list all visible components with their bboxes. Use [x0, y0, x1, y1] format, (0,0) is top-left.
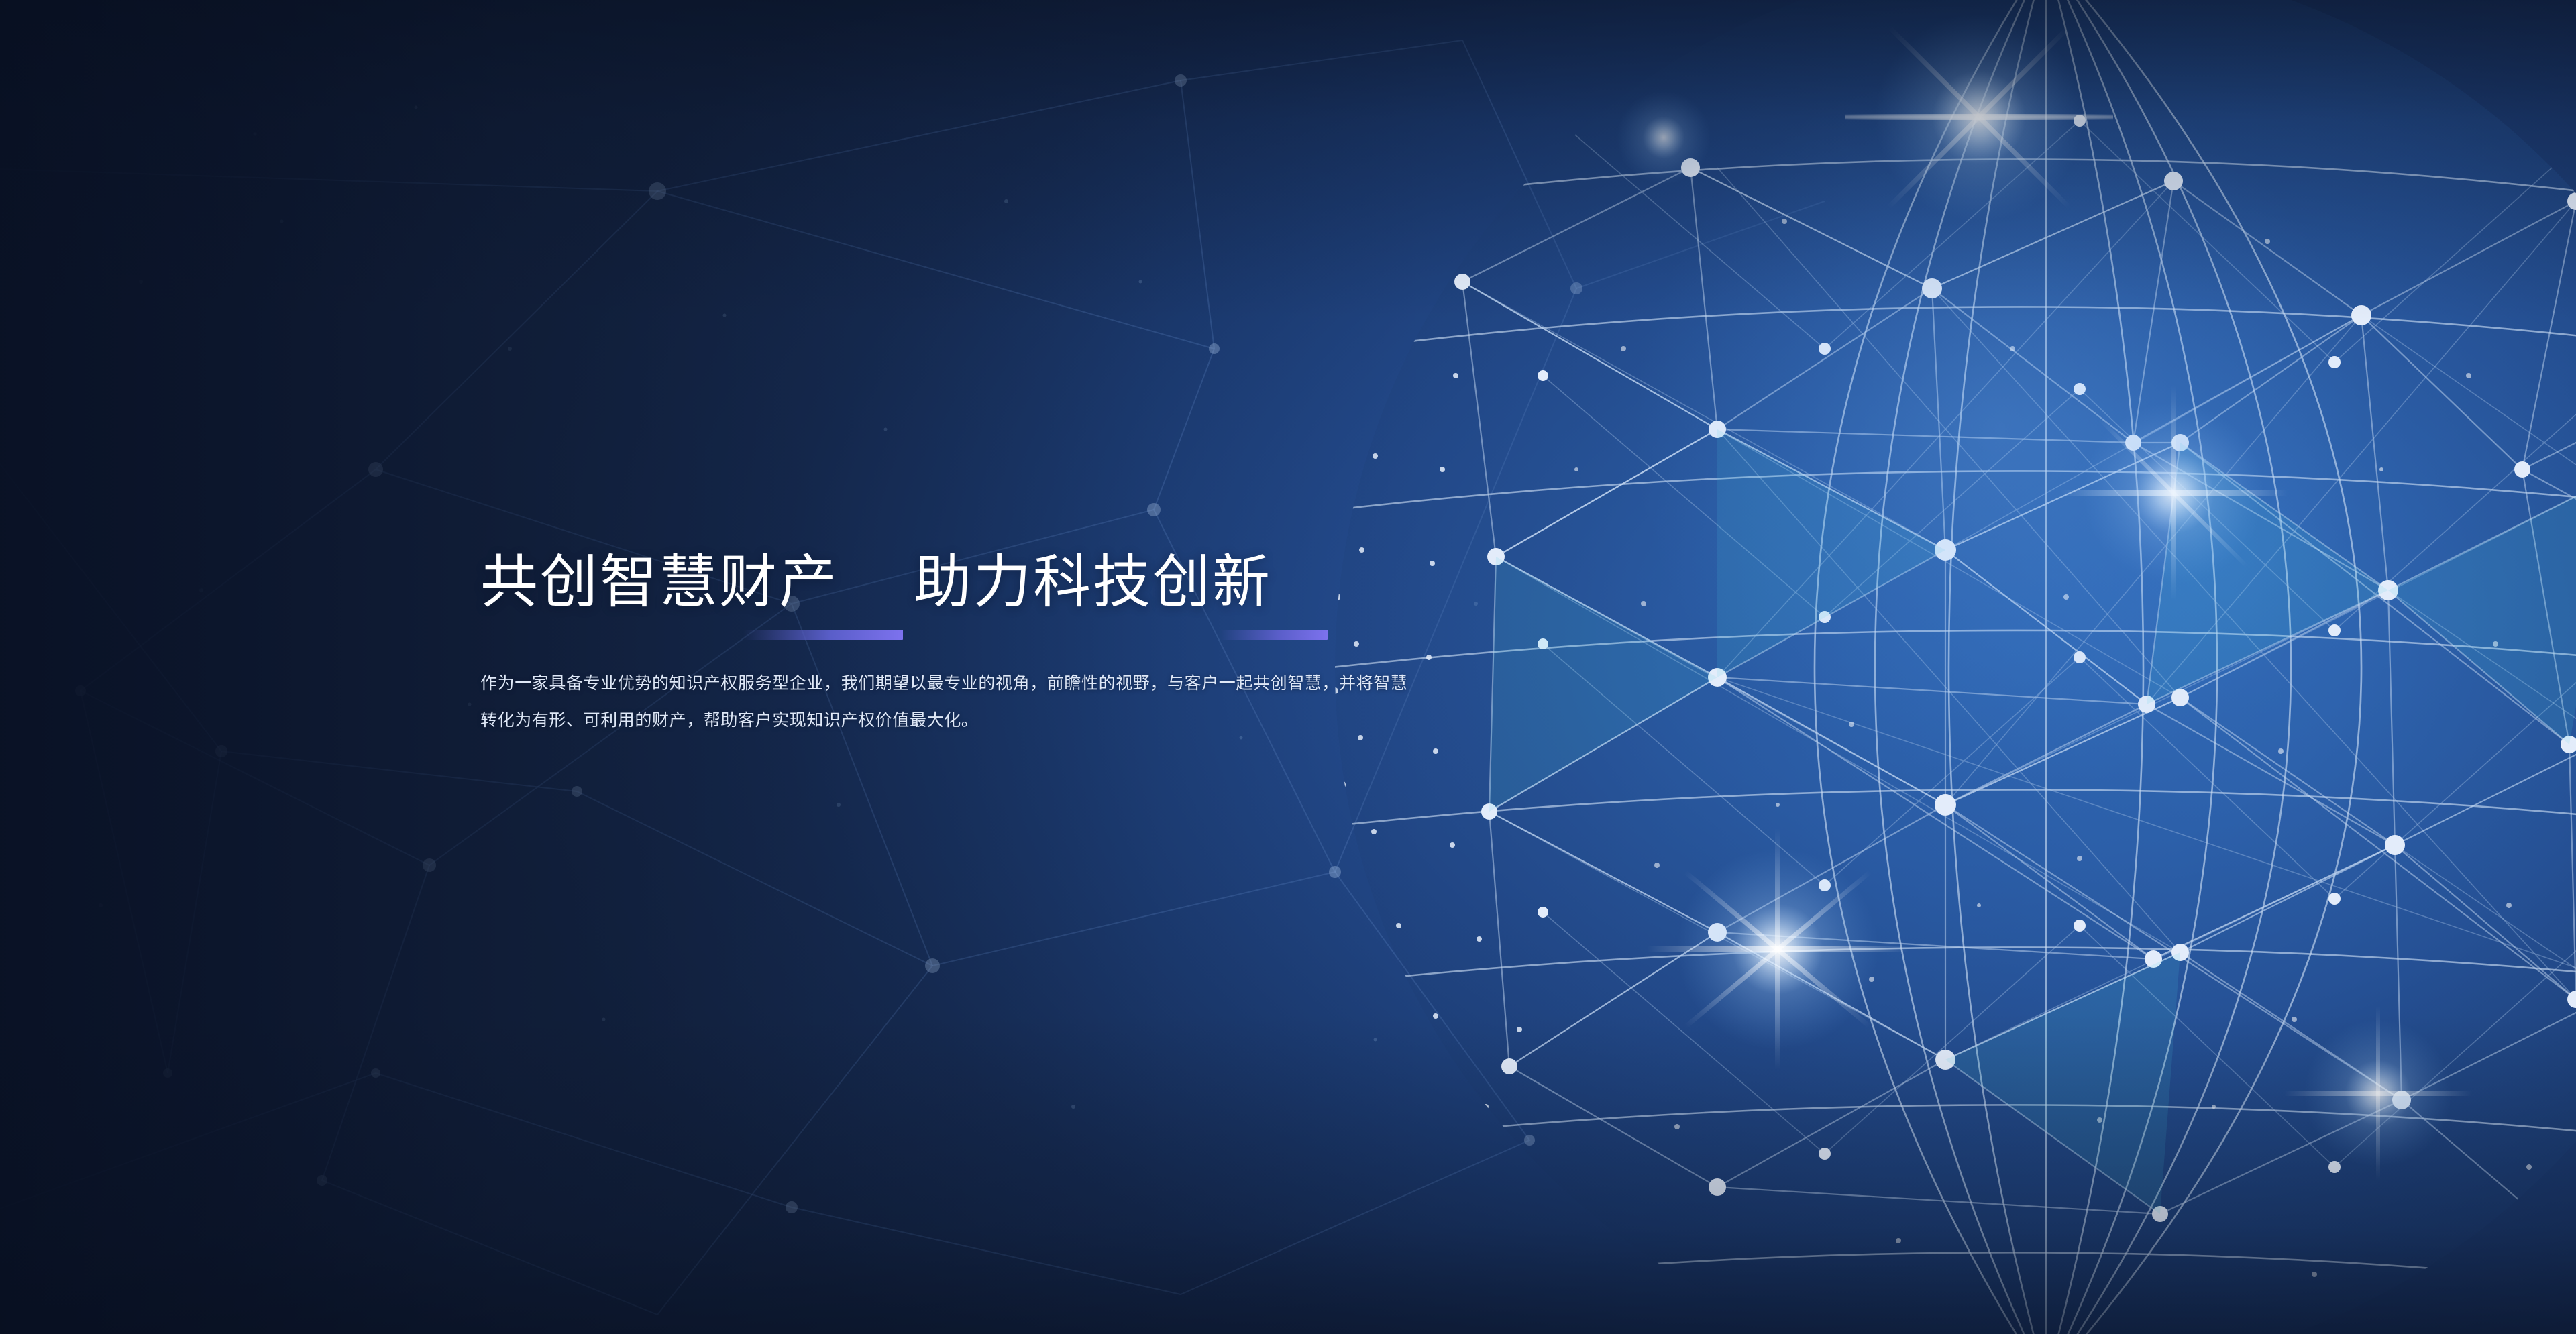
headline-segment-1: 共创智慧财产: [480, 550, 839, 614]
headline-segment-2: 助力科技创新: [914, 550, 1272, 614]
headline: 共创智慧财产 助力科技创新: [480, 550, 1433, 614]
hero-banner: 共创智慧财产 助力科技创新 作为一家具备专业优势的知识产权服务型企业，我们期望以…: [0, 0, 2576, 1334]
accent-underline-bar-1: [743, 630, 903, 640]
accent-underline-bar-2: [1219, 630, 1328, 640]
headline-text-primary: 共创智慧财产: [480, 550, 839, 614]
headline-text-secondary: 助力科技创新: [914, 550, 1272, 614]
hero-text-block: 共创智慧财产 助力科技创新 作为一家具备专业优势的知识产权服务型企业，我们期望以…: [480, 550, 1433, 755]
hero-body-paragraph: 作为一家具备专业优势的知识产权服务型企业，我们期望以最专业的视角，前瞻性的视野，…: [480, 665, 1419, 738]
